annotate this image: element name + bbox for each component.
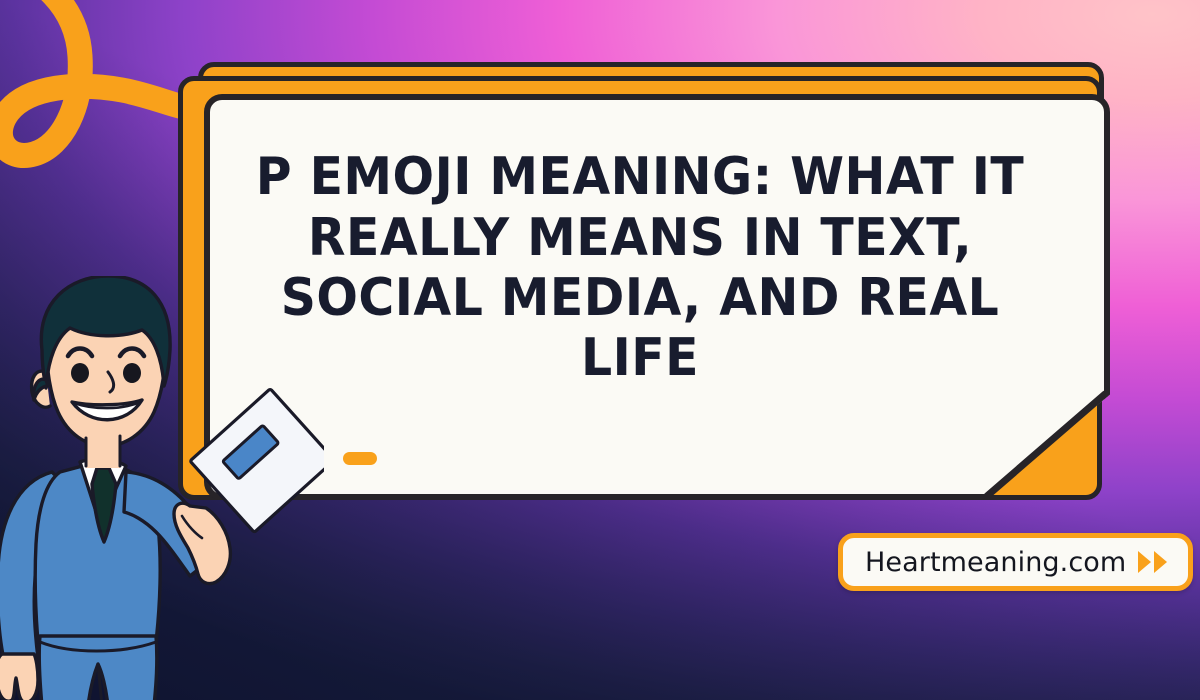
orange-dash-accent-right [343, 452, 377, 465]
businessman-illustration [0, 276, 324, 700]
badge-label: Heartmeaning.com [865, 547, 1126, 578]
poster-canvas: P Emoji Meaning: What It Really Means in… [0, 0, 1200, 700]
page-title: P Emoji Meaning: What It Really Means in… [190, 78, 1090, 458]
site-brand-badge[interactable]: Heartmeaning.com [838, 533, 1193, 591]
double-chevron-right-icon [1136, 549, 1170, 575]
headline-text: P Emoji Meaning: What It Really Means in… [236, 147, 1044, 388]
